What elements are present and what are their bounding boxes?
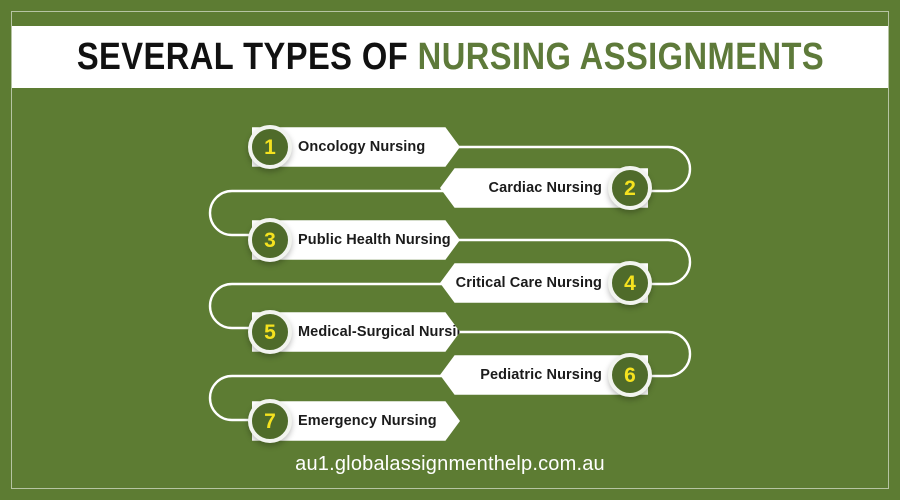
list-item[interactable]: Critical Care Nursing 4 [440,254,648,312]
item-badge-4: 4 [608,261,652,305]
item-label-5: Medical-Surgical Nursing [298,324,474,340]
list-item[interactable]: Cardiac Nursing 2 [440,159,648,217]
item-label-6: Pediatric Nursing [480,367,602,383]
item-label-3: Public Health Nursing [298,232,451,248]
list-item[interactable]: Oncology Nursing 1 [252,118,460,176]
item-number-2: 2 [624,178,636,199]
list-item[interactable]: Medical-Surgical Nursing 5 [252,303,460,361]
item-number-5: 5 [264,322,276,343]
item-label-1: Oncology Nursing [298,139,425,155]
item-badge-5: 5 [248,310,292,354]
title-accent-text: NURSING ASSIGNMENTS [417,36,823,78]
item-label-2: Cardiac Nursing [489,180,603,196]
item-label-4: Critical Care Nursing [456,275,602,291]
item-badge-1: 1 [248,125,292,169]
list-item[interactable]: Emergency Nursing 7 [252,392,460,450]
item-badge-6: 6 [608,353,652,397]
infographic-canvas: SEVERAL TYPES OF NURSING ASSIGNMENTS Onc… [0,0,900,500]
footer-url[interactable]: au1.globalassignmenthelp.com.au [0,453,900,476]
item-number-7: 7 [264,411,276,432]
item-number-1: 1 [264,137,276,158]
item-number-4: 4 [624,273,636,294]
list-item[interactable]: Public Health Nursing 3 [252,211,460,269]
item-badge-3: 3 [248,218,292,262]
item-number-3: 3 [264,230,276,251]
item-number-6: 6 [624,365,636,386]
title-band: SEVERAL TYPES OF NURSING ASSIGNMENTS [12,26,888,88]
item-badge-7: 7 [248,399,292,443]
page-title: SEVERAL TYPES OF NURSING ASSIGNMENTS [76,38,823,76]
title-plain-text: SEVERAL TYPES OF [76,36,417,78]
item-label-7: Emergency Nursing [298,413,437,429]
list-item[interactable]: Pediatric Nursing 6 [440,346,648,404]
item-badge-2: 2 [608,166,652,210]
